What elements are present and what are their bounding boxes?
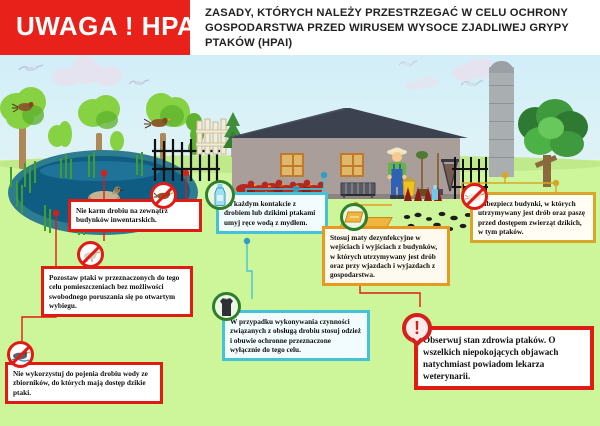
- exclamation-icon: !: [402, 313, 432, 343]
- soap-bottle-icon: [205, 180, 235, 210]
- no-wild-water-icon: [7, 341, 34, 368]
- callout-keep-birds-indoors: Pozostaw ptaki w przeznaczonych do tego …: [41, 266, 193, 317]
- callout-protective-clothing: W przypadku wykonywania czynności związa…: [222, 310, 370, 361]
- infographic-root: UWAGA ! HPAI ZASADY, KTÓRYCH NALEŻY PRZE…: [0, 0, 600, 426]
- callout-no-outdoor-feeding: Nie karm drobiu na zewnątrz budynków inw…: [68, 199, 202, 232]
- no-bird-feeding-icon: [150, 182, 177, 209]
- callout-observe-health: Obserwuj stan zdrowia ptaków. O wszelkic…: [414, 326, 594, 390]
- header-badge-title: UWAGA ! HPAI: [16, 10, 181, 42]
- no-wild-animals-icon: [461, 183, 488, 210]
- protective-clothing-icon: [212, 292, 241, 321]
- no-free-range-poultry-icon: [77, 241, 104, 268]
- callout-disinfection-mats: Stosuj maty dezynfekcyjne w wejściach i …: [322, 226, 450, 286]
- callout-no-open-water: Nie wykorzystuj do pojenia drobiu wody z…: [5, 362, 163, 404]
- header: UWAGA ! HPAI ZASADY, KTÓRYCH NALEŻY PRZE…: [0, 0, 600, 55]
- header-subtitle: ZASADY, KTÓRYCH NALEŻY PRZESTRZEGAĆ W CE…: [205, 6, 590, 51]
- callout-secure-buildings: Zabezpiecz budynki, w których utrzymywan…: [470, 192, 596, 243]
- disinfection-mat-icon: [340, 203, 368, 231]
